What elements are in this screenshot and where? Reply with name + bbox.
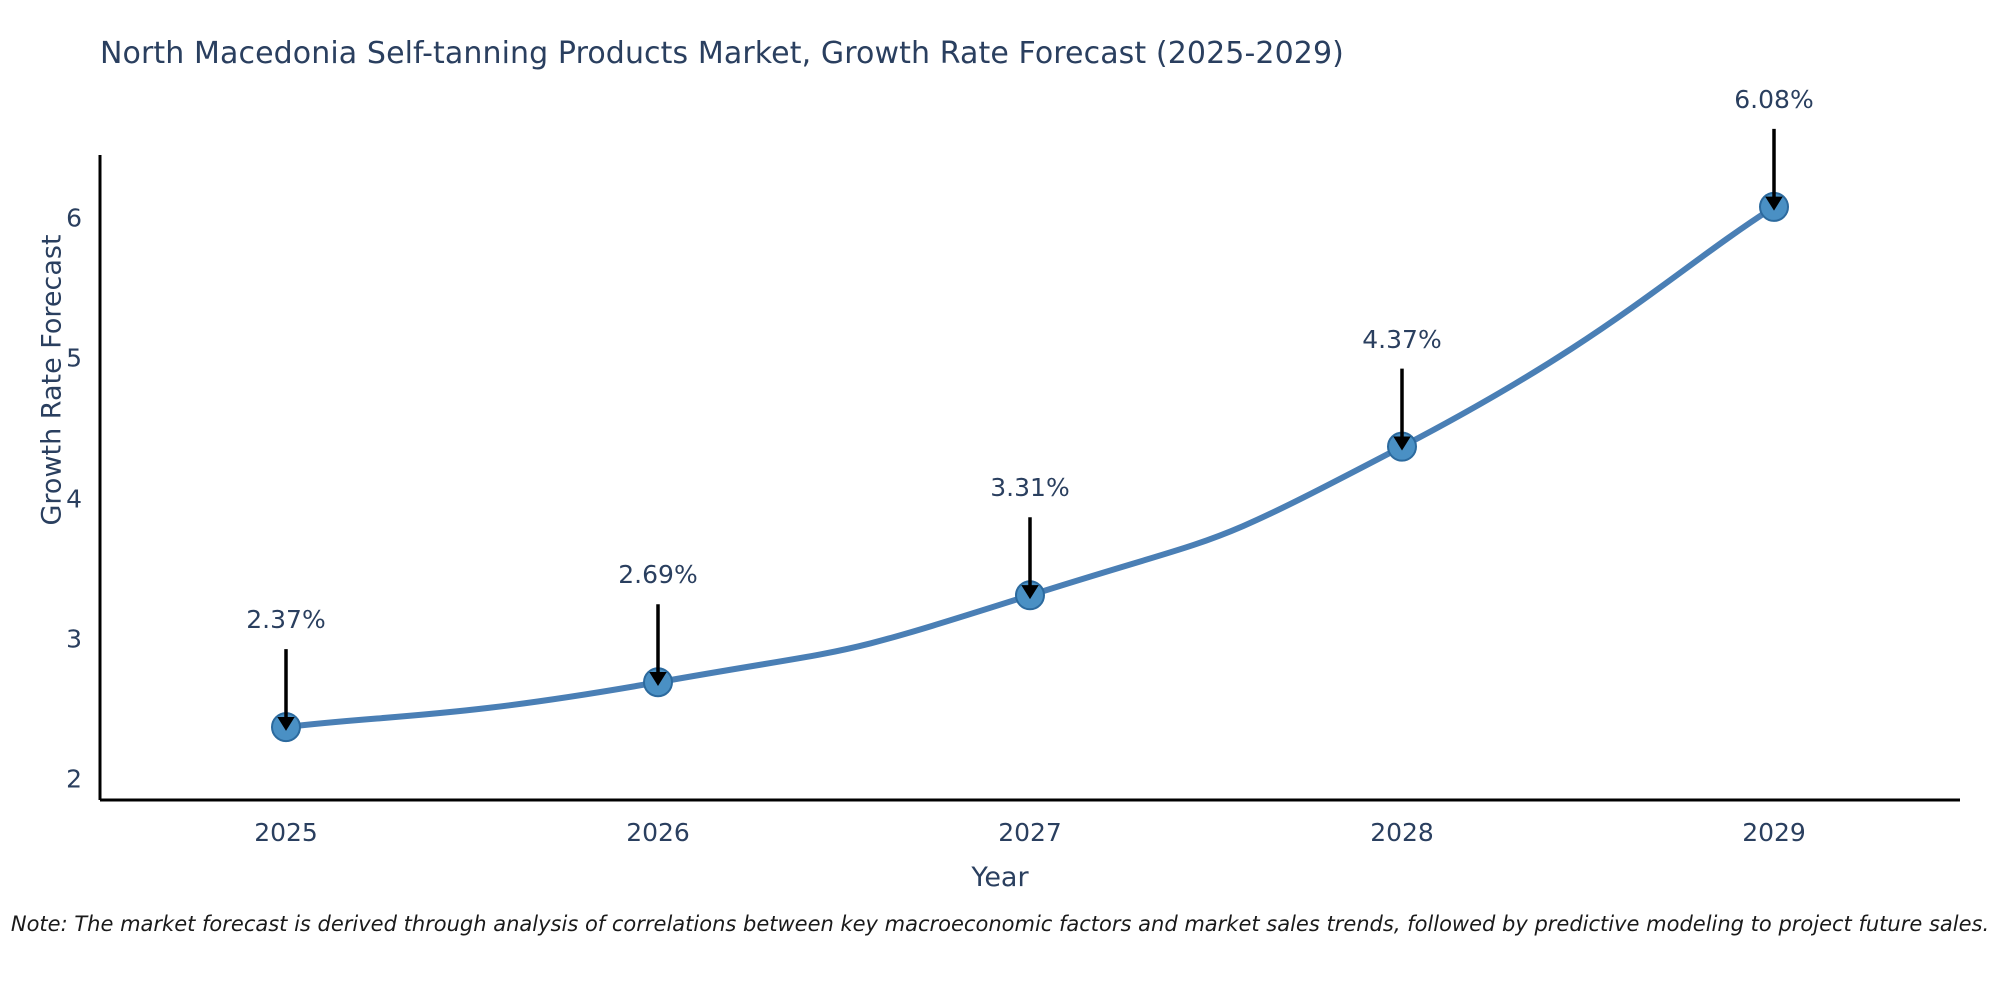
point-value-label: 6.08% <box>1684 85 1864 114</box>
data-line-series <box>286 207 1774 727</box>
x-tick-label: 2027 <box>950 818 1110 847</box>
chart-container: North Macedonia Self-tanning Products Ma… <box>0 0 2000 1000</box>
annotation-arrows <box>286 129 1774 721</box>
x-tick-label: 2028 <box>1322 818 1482 847</box>
point-value-label: 3.31% <box>940 473 1120 502</box>
x-tick-label: 2029 <box>1694 818 1854 847</box>
point-value-label: 2.69% <box>568 560 748 589</box>
x-tick-label: 2025 <box>206 818 366 847</box>
x-axis-title: Year <box>0 862 2000 893</box>
point-value-label: 4.37% <box>1312 325 1492 354</box>
footnote-text: Note: The market forecast is derived thr… <box>0 912 2000 936</box>
y-tick-label: 4 <box>22 484 82 513</box>
x-tick-label: 2026 <box>578 818 738 847</box>
y-tick-label: 2 <box>22 764 82 793</box>
y-tick-label: 6 <box>22 204 82 233</box>
point-value-label: 2.37% <box>196 605 376 634</box>
y-tick-label: 3 <box>22 624 82 653</box>
y-tick-label: 5 <box>22 344 82 373</box>
data-point-markers <box>272 193 1788 741</box>
